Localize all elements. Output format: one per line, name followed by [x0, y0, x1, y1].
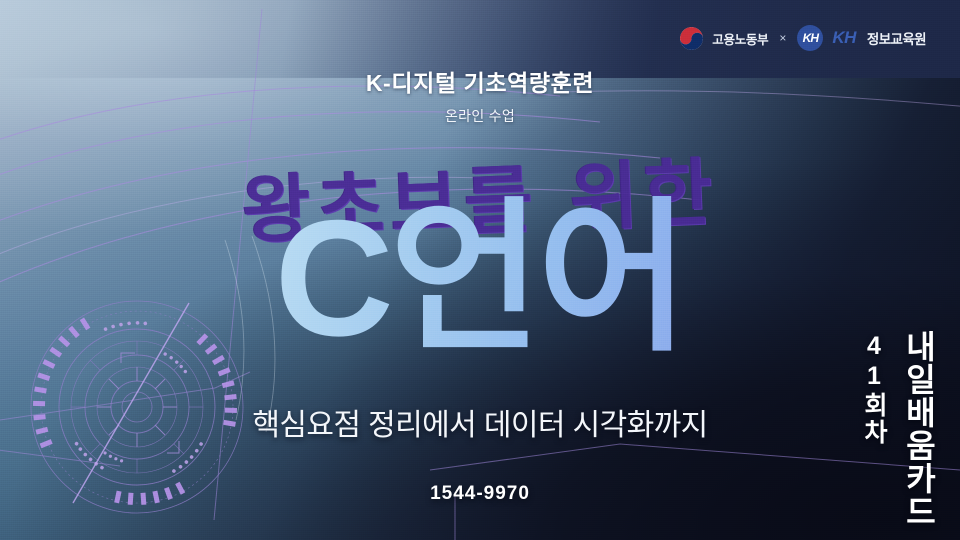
poster-canvas: 고용노동부 × KH KH 정보교육원 K-디지털 기초역량훈련 온라인 수업 …	[0, 0, 960, 540]
film-grain-overlay	[0, 0, 960, 540]
